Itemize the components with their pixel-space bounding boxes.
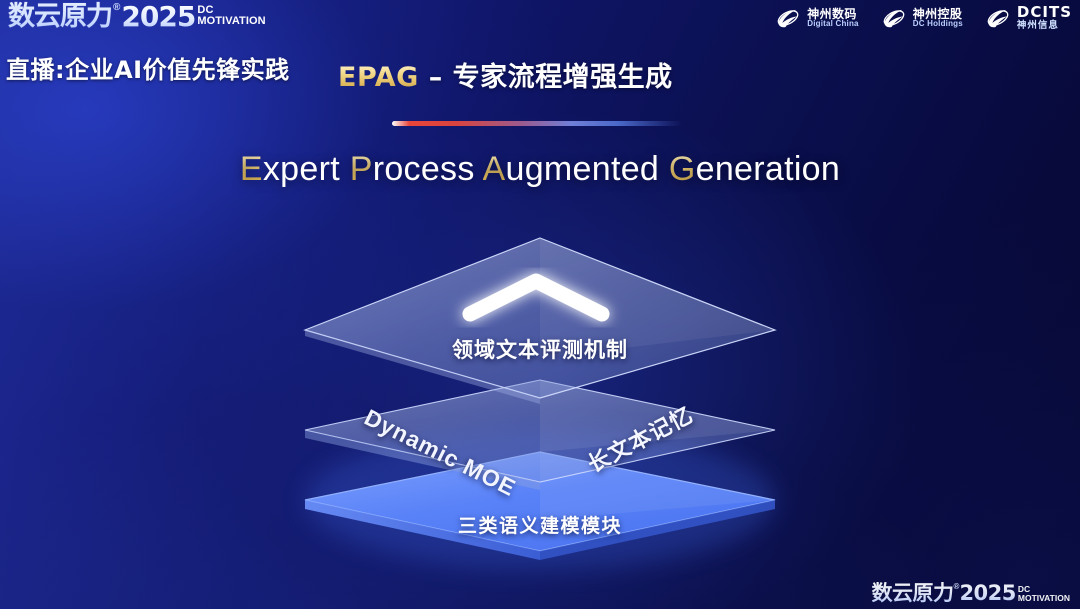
slide-headline: EPAG – 专家流程增强生成 (338, 55, 673, 94)
subtitle-cap-a: A (483, 150, 506, 188)
watermark-logo: 数云原力 ® 2025 DC MOTIVATION (872, 582, 1070, 605)
layer-label-bottom: 三类语义建模模块 (0, 511, 1080, 538)
partner-logo-dc-holdings: 神州控股 DC Holdings (881, 5, 963, 31)
subtitle-word-expert: xpert (263, 150, 350, 188)
swirl-logo-icon (775, 5, 801, 31)
partner-name-en: 神州信息 (1017, 21, 1072, 31)
diagram-layer-top (305, 238, 775, 404)
subtitle-word-process: rocess (373, 150, 483, 188)
diagram-layer-bottom (305, 430, 775, 570)
partner-logo-dcits: DCITS 神州信息 (985, 5, 1072, 31)
diagram-layer-middle (305, 380, 775, 490)
subtitle-word-generation: eneration (696, 150, 840, 188)
partner-logo-digital-china: 神州数码 Digital China (775, 5, 859, 31)
watermark-logo-cn: 数云原力 (872, 582, 954, 605)
swirl-logo-icon (881, 5, 907, 31)
event-logo-year: 2025 (121, 2, 195, 32)
chevron-up-icon (470, 281, 602, 314)
watermark-logo-dc-line2: MOTIVATION (1018, 594, 1070, 603)
headline-chinese: 专家流程增强生成 (453, 62, 673, 93)
live-title: 直播:企业AI价值先锋实践 (6, 50, 290, 85)
headline-acronym: EPAG (338, 62, 419, 93)
gradient-divider (392, 121, 682, 126)
subtitle-word-augmented: ugmented (506, 150, 669, 188)
event-logo-dc: DC MOTIVATION (197, 5, 265, 27)
subtitle-cap-p: P (350, 150, 373, 188)
subtitle-cap-e: E (240, 150, 263, 188)
event-logo-cn: 数云原力 (8, 2, 112, 32)
partner-name-en: Digital China (807, 20, 859, 28)
subtitle-cap-g: G (669, 150, 696, 188)
headline-separator: – (419, 62, 453, 93)
layer-label-long-text-memory: 长文本记忆 (581, 398, 698, 479)
watermark-logo-dc: DC MOTIVATION (1018, 585, 1070, 602)
registered-mark-icon: ® (113, 2, 120, 13)
swirl-logo-icon (985, 5, 1011, 31)
layer-label-top: 领域文本评测机制 (0, 334, 1080, 364)
partner-logo-bar: 神州数码 Digital China 神州控股 DC Holdings (775, 5, 1072, 31)
watermark-logo-year: 2025 (959, 582, 1015, 605)
partner-name-en: DC Holdings (913, 20, 963, 28)
partner-name-cn: DCITS (1017, 5, 1072, 21)
slide-canvas: 数云原力 ® 2025 DC MOTIVATION 直播:企业AI价值先锋实践 … (0, 0, 1080, 609)
event-logo: 数云原力 ® 2025 DC MOTIVATION (8, 2, 266, 32)
event-logo-dc-line2: MOTIVATION (197, 16, 265, 27)
layer-label-dynamic-moe: Dynamic MOE (360, 404, 520, 502)
slide-subtitle: Expert Process Augmented Generation (0, 150, 1080, 189)
